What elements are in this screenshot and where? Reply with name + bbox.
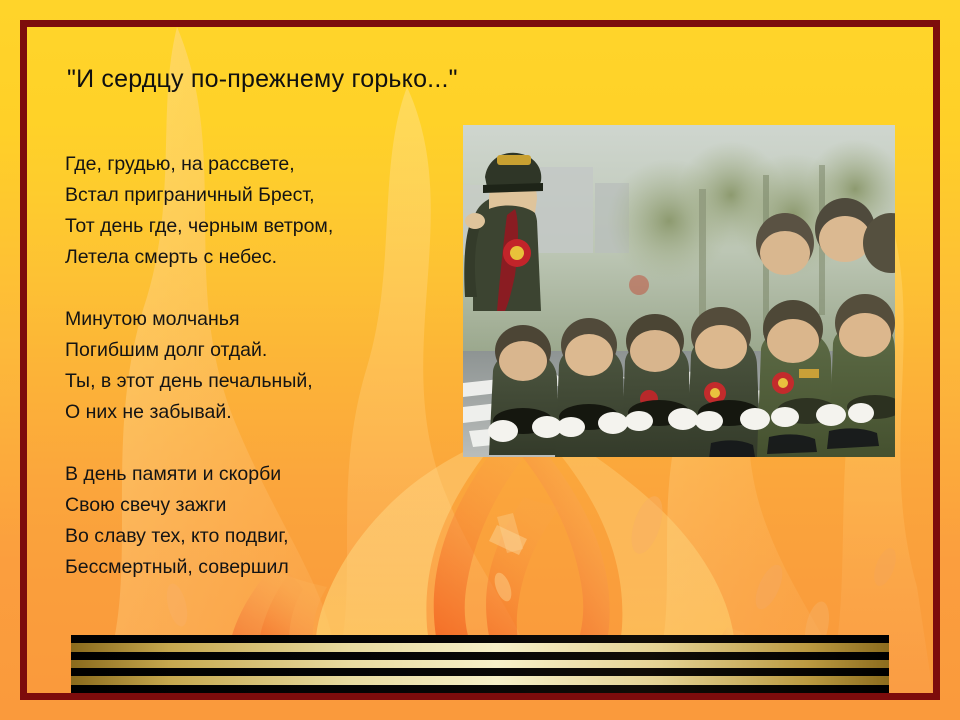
poem-stanza: Где, грудью, на рассвете, Встал приграни…: [65, 149, 445, 273]
poem-line: Ты, в этот день печальный,: [65, 366, 445, 397]
poem-line: Бессмертный, совершил: [65, 552, 445, 583]
ribbon-stripe-gold: [71, 643, 889, 651]
ribbon-stripe-gold: [71, 660, 889, 668]
ribbon-stripe-black: [71, 635, 889, 643]
memorial-photo: [463, 125, 895, 457]
poem-line: Во славу тех, кто подвиг,: [65, 521, 445, 552]
ribbon-stripe-black: [71, 652, 889, 660]
slide-canvas: "И сердцу по-прежнему горько..." Где, гр…: [0, 0, 960, 720]
memorial-photo-image: [463, 125, 895, 457]
poem-line: В день памяти и скорби: [65, 459, 445, 490]
georgievskaya-lenta-ribbon: [71, 635, 889, 693]
poem-line: Свою свечу зажги: [65, 490, 445, 521]
poem-line: Минутою молчанья: [65, 304, 445, 335]
ribbon-stripe-black: [71, 685, 889, 693]
ribbon-stripe-black: [71, 668, 889, 676]
poem-line: Тот день где, черным ветром,: [65, 211, 445, 242]
poem-stanza: В день памяти и скорби Свою свечу зажги …: [65, 459, 445, 583]
ribbon-stripe-gold: [71, 676, 889, 684]
poem-line: Погибшим долг отдай.: [65, 335, 445, 366]
poem-stanza: Минутою молчанья Погибшим долг отдай. Ты…: [65, 304, 445, 428]
poem-line: Встал приграничный Брест,: [65, 180, 445, 211]
slide-title: "И сердцу по-прежнему горько...": [67, 65, 458, 94]
slide-frame: "И сердцу по-прежнему горько..." Где, гр…: [20, 20, 940, 700]
poem-line: О них не забывай.: [65, 397, 445, 428]
poem-text: Где, грудью, на рассвете, Встал приграни…: [65, 149, 445, 614]
poem-line: Где, грудью, на рассвете,: [65, 149, 445, 180]
poem-line: Летела смерть с небес.: [65, 242, 445, 273]
